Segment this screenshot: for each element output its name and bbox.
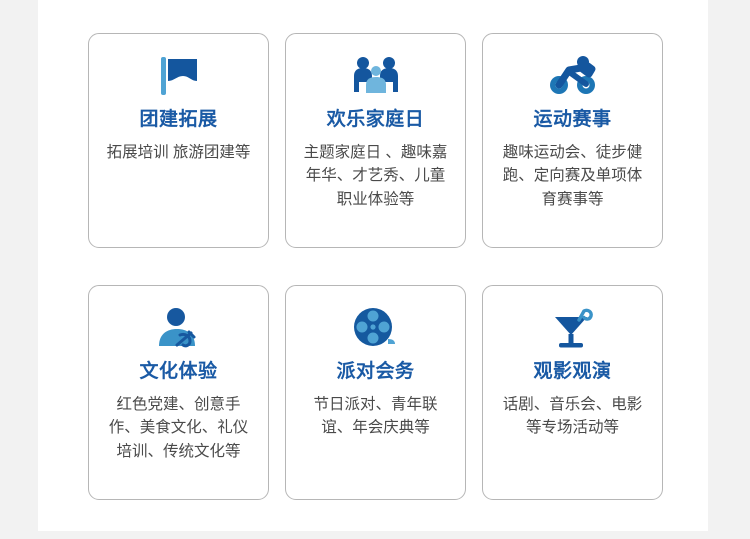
culture-person-icon (152, 304, 206, 352)
card-title: 派对会务 (336, 361, 414, 384)
film-reel-icon (349, 304, 403, 352)
card-description: 拓展培训 旅游团建等 (104, 141, 254, 165)
card-description: 节日派对、青年联谊、年会庆典等 (301, 393, 451, 440)
card-description: 趣味运动会、徒步健跑、定向赛及单项体育赛事等 (498, 141, 648, 212)
card-description: 红色党建、创意手作、美食文化、礼仪培训、传统文化等 (104, 393, 254, 464)
card-title: 运动赛事 (533, 109, 611, 132)
family-icon (349, 52, 403, 100)
card-title: 欢乐家庭日 (327, 109, 425, 132)
page-root: 团建拓展 拓展培训 旅游团建等 欢乐家庭日 主题家庭日 、趣味嘉年华、才艺秀、儿… (0, 0, 750, 539)
cyclist-icon (546, 52, 600, 100)
category-card-family-day[interactable]: 欢乐家庭日 主题家庭日 、趣味嘉年华、才艺秀、儿童职业体验等 (285, 33, 466, 248)
category-card-team-building[interactable]: 团建拓展 拓展培训 旅游团建等 (88, 33, 269, 248)
card-title: 观影观演 (533, 361, 611, 384)
card-description: 主题家庭日 、趣味嘉年华、才艺秀、儿童职业体验等 (301, 141, 451, 212)
category-card-sports-events[interactable]: 运动赛事 趣味运动会、徒步健跑、定向赛及单项体育赛事等 (482, 33, 663, 248)
card-title: 团建拓展 (139, 109, 217, 132)
category-card-shows-movies[interactable]: 观影观演 话剧、音乐会、电影等专场活动等 (482, 285, 663, 500)
cocktail-icon (546, 304, 600, 352)
service-category-grid: 团建拓展 拓展培训 旅游团建等 欢乐家庭日 主题家庭日 、趣味嘉年华、才艺秀、儿… (88, 33, 670, 500)
category-card-culture-experience[interactable]: 文化体验 红色党建、创意手作、美食文化、礼仪培训、传统文化等 (88, 285, 269, 500)
flag-icon (152, 52, 206, 100)
card-description: 话剧、音乐会、电影等专场活动等 (498, 393, 648, 440)
card-title: 文化体验 (139, 361, 217, 384)
category-card-party-events[interactable]: 派对会务 节日派对、青年联谊、年会庆典等 (285, 285, 466, 500)
